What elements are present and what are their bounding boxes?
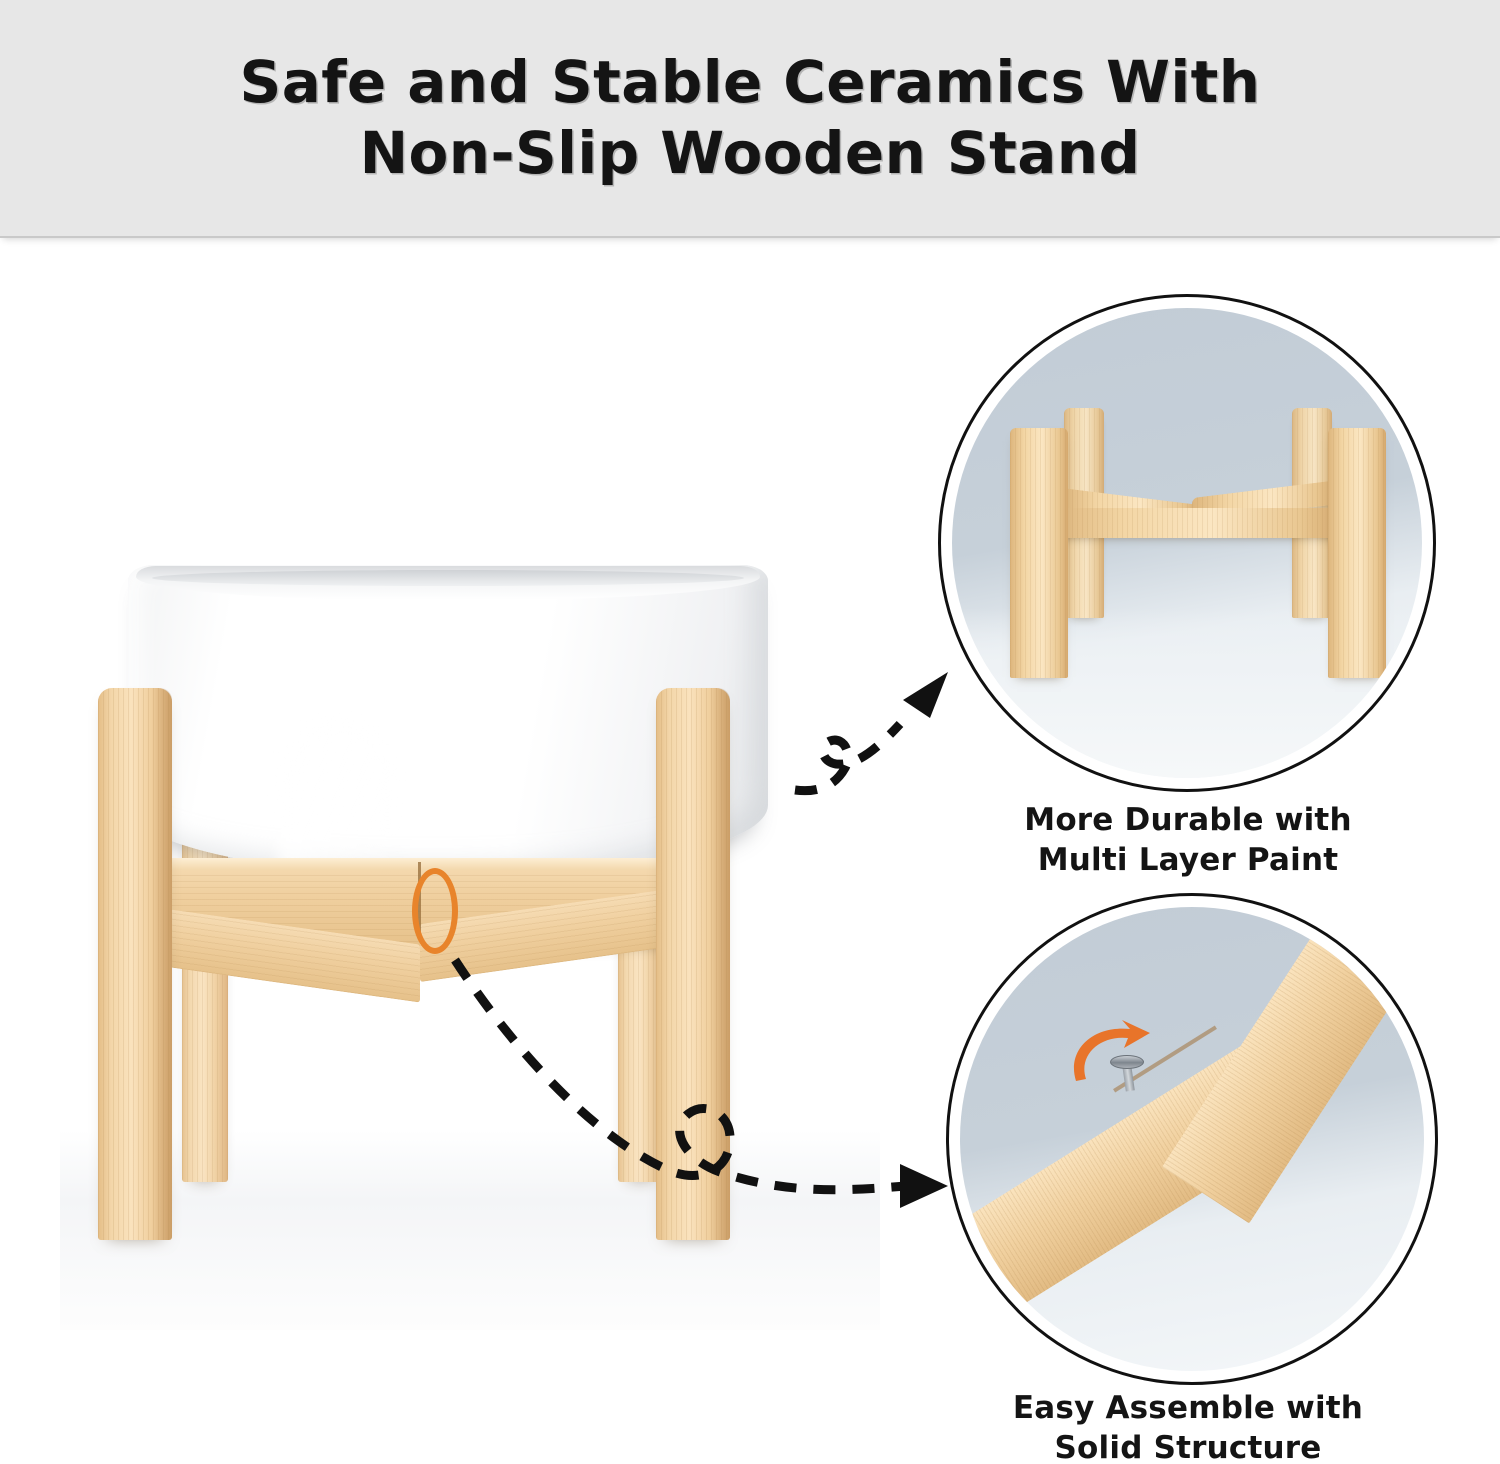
screw-head-icon <box>1110 1055 1144 1069</box>
leg-shading <box>710 688 730 1240</box>
feature-caption-assembly: Easy Assemble with Solid Structure <box>928 1388 1448 1464</box>
leg-shading <box>152 688 172 1240</box>
feature-image-durability <box>952 308 1422 778</box>
infographic-root: Safe and Stable Ceramics With Non-Slip W… <box>0 0 1500 1464</box>
inset-stand-leg-front-left <box>1010 428 1068 678</box>
stand-leg-front-right <box>656 688 730 1240</box>
bowl-rim-inner <box>152 570 744 586</box>
inset-stand-leg-front-right <box>1328 428 1386 678</box>
main-product-image <box>40 470 900 1330</box>
feature-caption-durability: More Durable with Multi Layer Paint <box>928 800 1448 881</box>
title-line-1: Safe and Stable Ceramics With <box>240 47 1261 118</box>
caption-line-1: More Durable with <box>928 800 1448 840</box>
caption-line-2: Multi Layer Paint <box>928 840 1448 880</box>
stand-front-rail-lip <box>132 858 710 870</box>
caption-line-2: Solid Structure <box>928 1428 1448 1464</box>
caption-line-1: Easy Assemble with <box>928 1388 1448 1428</box>
page-title: Safe and Stable Ceramics With Non-Slip W… <box>240 47 1261 190</box>
stand-leg-front-left <box>98 688 172 1240</box>
header-band: Safe and Stable Ceramics With Non-Slip W… <box>0 0 1500 238</box>
title-line-2: Non-Slip Wooden Stand <box>240 118 1261 189</box>
inset-front-rail <box>1052 508 1344 538</box>
inset-plank-upper <box>1162 907 1424 1223</box>
feature-image-assembly <box>960 907 1424 1371</box>
center-joint-highlight-ellipse <box>412 868 458 954</box>
